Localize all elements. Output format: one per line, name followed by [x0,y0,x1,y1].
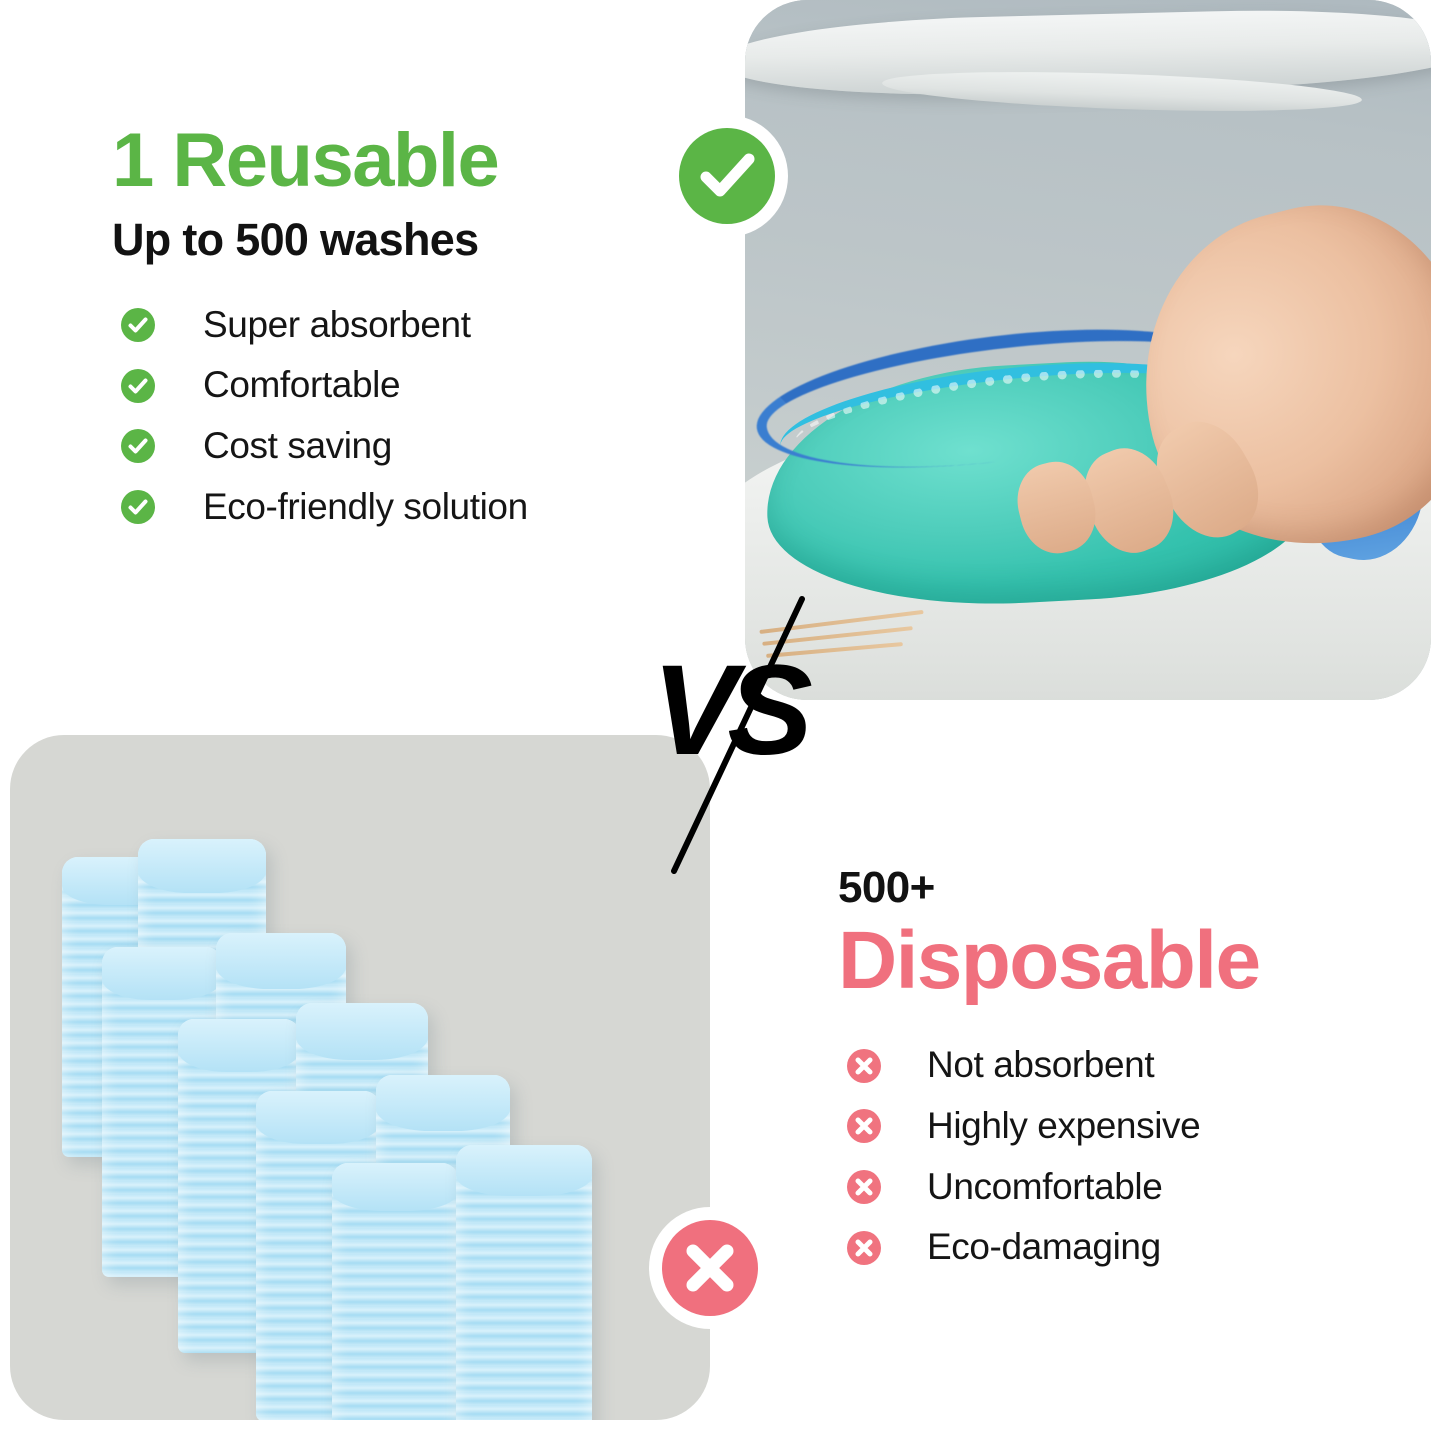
cross-circle-icon [847,1231,881,1265]
list-item: Comfortable [112,365,692,406]
list-item-label: Cost saving [203,426,392,467]
list-item: Cost saving [112,426,692,467]
disposable-section: 500+ Disposable Not absorbent Highly exp… [838,866,1398,1288]
cross-circle-icon [847,1109,881,1143]
reusable-title: 1 Reusable [112,122,692,200]
check-circle-icon [121,490,155,524]
list-item-label: Eco-damaging [927,1227,1161,1268]
cross-circle-icon [847,1049,881,1083]
reusable-subtitle: Up to 500 washes [112,216,692,263]
pad-stack [332,1163,458,1420]
disposable-count: 500+ [838,866,1398,910]
cross-circle-badge [662,1220,758,1316]
list-item: Super absorbent [112,305,692,346]
disposable-pads-photo-panel [10,735,710,1420]
disposable-drawbacks-list: Not absorbent Highly expensive Uncomfort… [838,1045,1398,1268]
check-circle-icon [121,369,155,403]
check-circle-icon [121,429,155,463]
list-item: Uncomfortable [838,1167,1398,1208]
list-item-label: Uncomfortable [927,1167,1162,1208]
reusable-benefits-list: Super absorbent Comfortable Cost saving … [112,305,692,528]
list-item-label: Super absorbent [203,305,471,346]
reusable-section: 1 Reusable Up to 500 washes Super absorb… [112,122,692,548]
list-item-label: Not absorbent [927,1045,1154,1086]
list-item-label: Highly expensive [927,1106,1200,1147]
list-item: Eco-damaging [838,1227,1398,1268]
versus-label: VS [652,647,803,775]
list-item: Eco-friendly solution [112,487,692,528]
list-item-label: Comfortable [203,365,400,406]
cross-circle-icon [847,1170,881,1204]
check-circle-icon [121,308,155,342]
list-item: Highly expensive [838,1106,1398,1147]
comparison-infographic: 1 Reusable Up to 500 washes Super absorb… [0,0,1445,1433]
list-item: Not absorbent [838,1045,1398,1086]
pad-stack [456,1145,592,1420]
versus-divider: VS [630,585,860,885]
check-circle-badge [679,128,775,224]
disposable-title: Disposable [838,918,1398,1003]
list-item-label: Eco-friendly solution [203,487,528,528]
